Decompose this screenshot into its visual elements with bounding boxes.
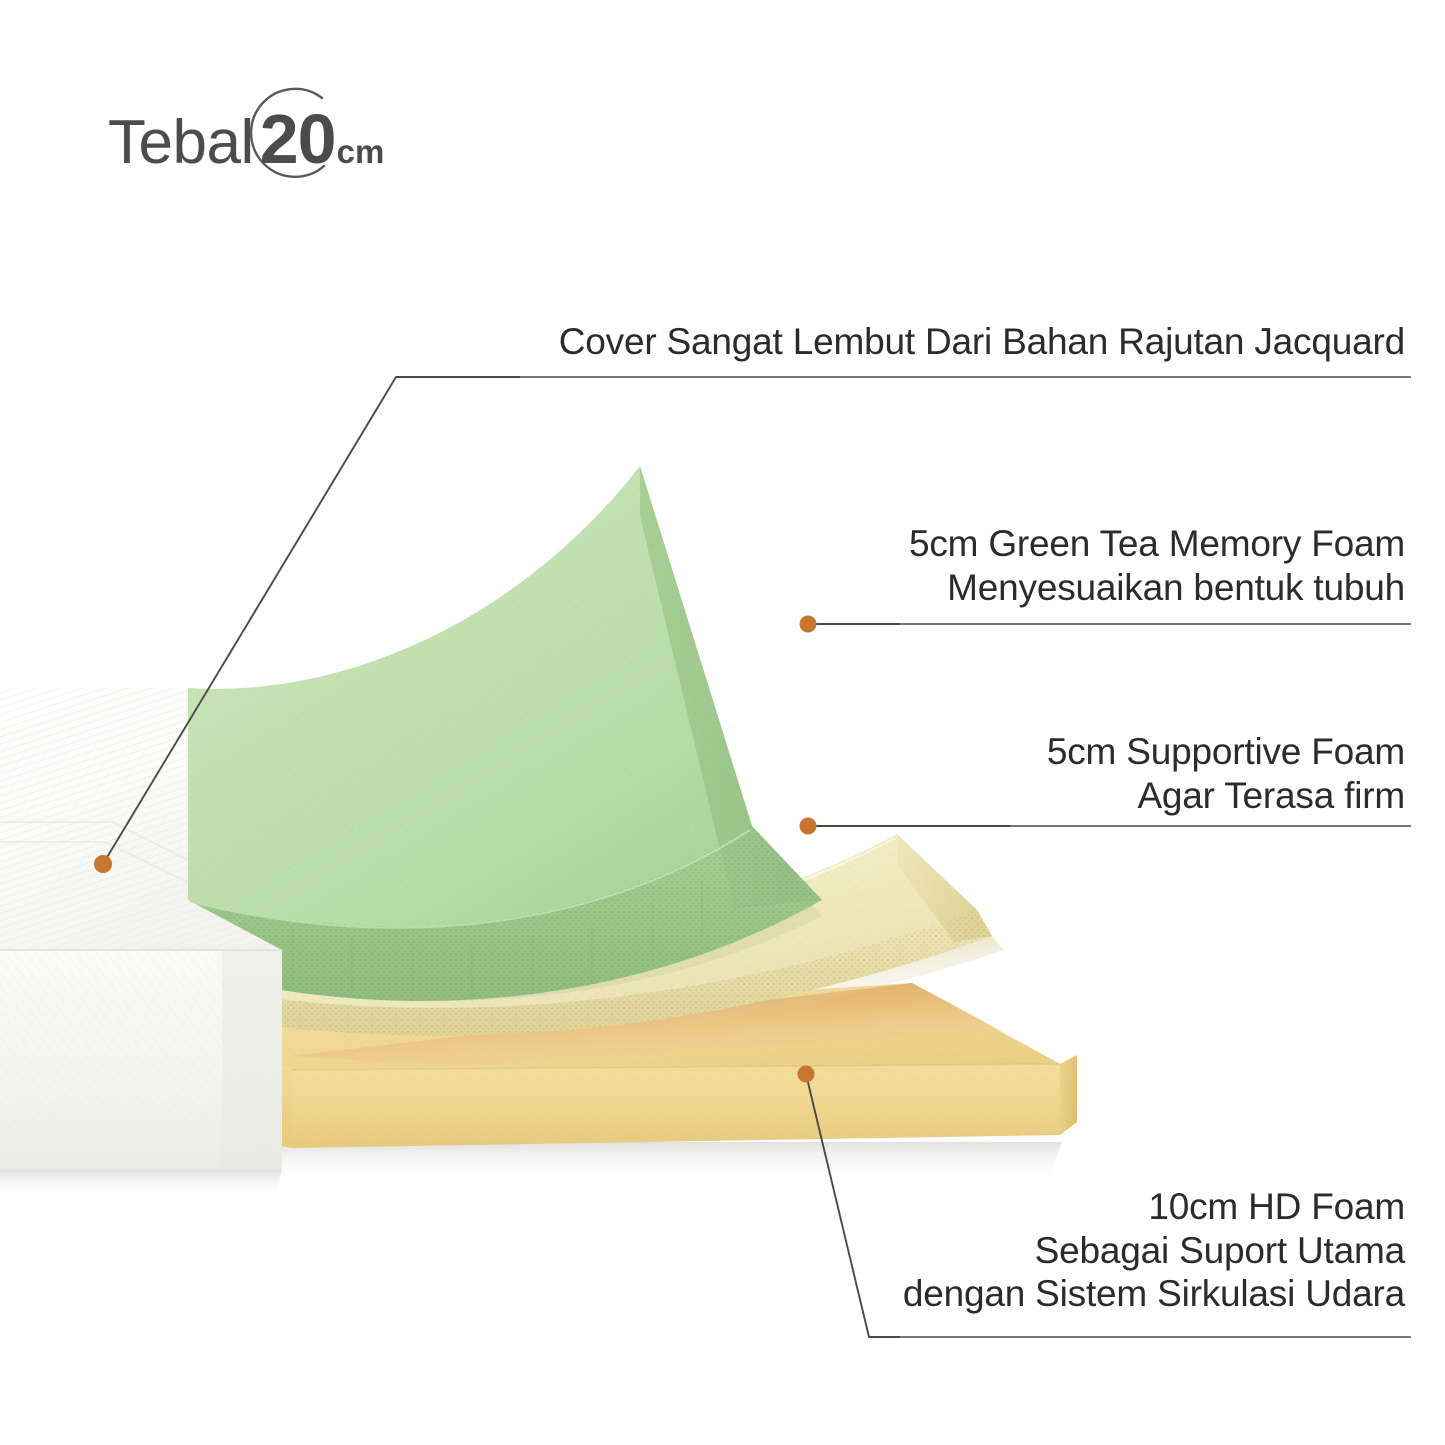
callout-cover-line-1: Cover Sangat Lembut Dari Bahan Rajutan J… [559,320,1405,364]
callout-hd-foam-line-1: 10cm HD Foam [903,1185,1405,1229]
thickness-badge-word: Tebal [108,112,254,174]
thickness-badge: Tebal 20 cm [108,104,384,190]
callout-green-foam-line-2: Menyesuaikan bentuk tubuh [909,566,1405,610]
floor-shadow [167,1142,1062,1182]
callout-cover-text: Cover Sangat Lembut Dari Bahan Rajutan J… [559,320,1405,364]
callout-hd-foam-line-2: Sebagai Suport Utama [903,1229,1405,1273]
green-tea-memory-foam-layer [188,466,822,1002]
callout-green-foam-text: 5cm Green Tea Memory Foam Menyesuaikan b… [909,522,1405,609]
callout-hd-foam-line-3: dengan Sistem Sirkulasi Udara [903,1272,1405,1316]
infographic-canvas: Tebal 20 cm [0,0,1445,1445]
callout-green-foam-line-1: 5cm Green Tea Memory Foam [909,522,1405,566]
callout-supportive-foam-text: 5cm Supportive Foam Agar Terasa firm [1047,730,1405,817]
thickness-badge-unit: cm [337,135,385,168]
thickness-badge-number: 20 [260,104,336,174]
thickness-badge-value-group: 20 cm [260,104,385,174]
callout-supportive-foam-line-2: Agar Terasa firm [1047,774,1405,818]
callout-hd-foam-text: 10cm HD Foam Sebagai Suport Utama dengan… [903,1185,1405,1316]
callout-supportive-foam-line-1: 5cm Supportive Foam [1047,730,1405,774]
